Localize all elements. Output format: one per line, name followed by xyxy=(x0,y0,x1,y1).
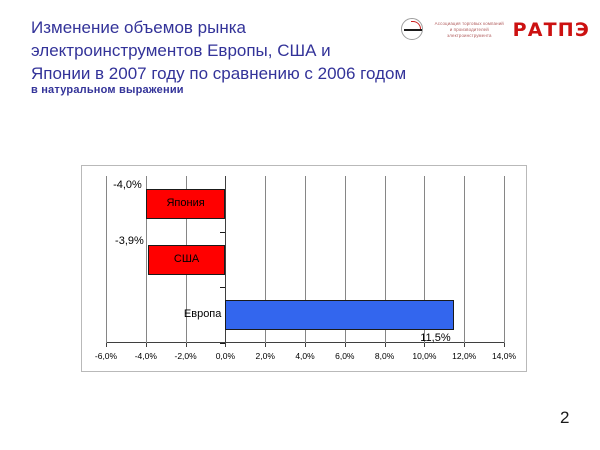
x-axis-tick xyxy=(504,343,505,347)
bar-япония[interactable] xyxy=(146,189,226,219)
gridline xyxy=(464,176,465,343)
x-axis-tick xyxy=(345,343,346,347)
page-subtitle: в натуральном выражении xyxy=(31,84,184,96)
x-axis-tick xyxy=(146,343,147,347)
x-axis-tick-label: 2,0% xyxy=(256,351,275,361)
bar-сша[interactable] xyxy=(148,245,226,275)
ratpe-emblem-icon xyxy=(400,17,426,43)
chart-container: -6,0%-4,0%-2,0%0,0%2,0%4,0%6,0%8,0%10,0%… xyxy=(81,165,527,372)
bar-value-label-сша: -3,9% xyxy=(102,235,144,247)
x-axis-tick xyxy=(385,343,386,347)
x-axis-tick-label: 10,0% xyxy=(412,351,436,361)
ratpe-logo: Ассоциация торговых компаний и производи… xyxy=(400,12,590,48)
x-axis-tick xyxy=(464,343,465,347)
x-axis-tick xyxy=(106,343,107,347)
category-tick xyxy=(220,343,225,344)
category-tick xyxy=(220,232,225,233)
bar-category-label-европа: Европа xyxy=(165,308,221,320)
chart-plot-area: -6,0%-4,0%-2,0%0,0%2,0%4,0%6,0%8,0%10,0%… xyxy=(106,176,504,343)
bar-value-label-япония: -4,0% xyxy=(100,179,142,191)
x-axis-tick-label: 0,0% xyxy=(216,351,235,361)
x-axis-tick-label: -2,0% xyxy=(174,351,196,361)
category-tick xyxy=(220,287,225,288)
x-axis-tick-label: 14,0% xyxy=(492,351,516,361)
gridline xyxy=(106,176,107,343)
x-axis-tick-label: 6,0% xyxy=(335,351,354,361)
x-axis-tick-label: -4,0% xyxy=(135,351,157,361)
logo-brand-text: РАТПЭ xyxy=(513,19,590,41)
x-axis-tick xyxy=(265,343,266,347)
x-axis-tick-label: 12,0% xyxy=(452,351,476,361)
x-axis-tick xyxy=(305,343,306,347)
bar-value-label-европа: 11,5% xyxy=(420,332,450,344)
x-axis-tick-label: 8,0% xyxy=(375,351,394,361)
page-title: Изменение объемов рынка электроинструмен… xyxy=(31,16,411,85)
gridline xyxy=(504,176,505,343)
x-axis-tick xyxy=(225,343,226,347)
logo-association-text: Ассоциация торговых компаний и производи… xyxy=(426,21,513,39)
x-axis-tick xyxy=(186,343,187,347)
x-axis-tick-label: 4,0% xyxy=(295,351,314,361)
page-number: 2 xyxy=(560,408,569,428)
x-axis-tick-label: -6,0% xyxy=(95,351,117,361)
bar-европа[interactable] xyxy=(225,300,454,330)
